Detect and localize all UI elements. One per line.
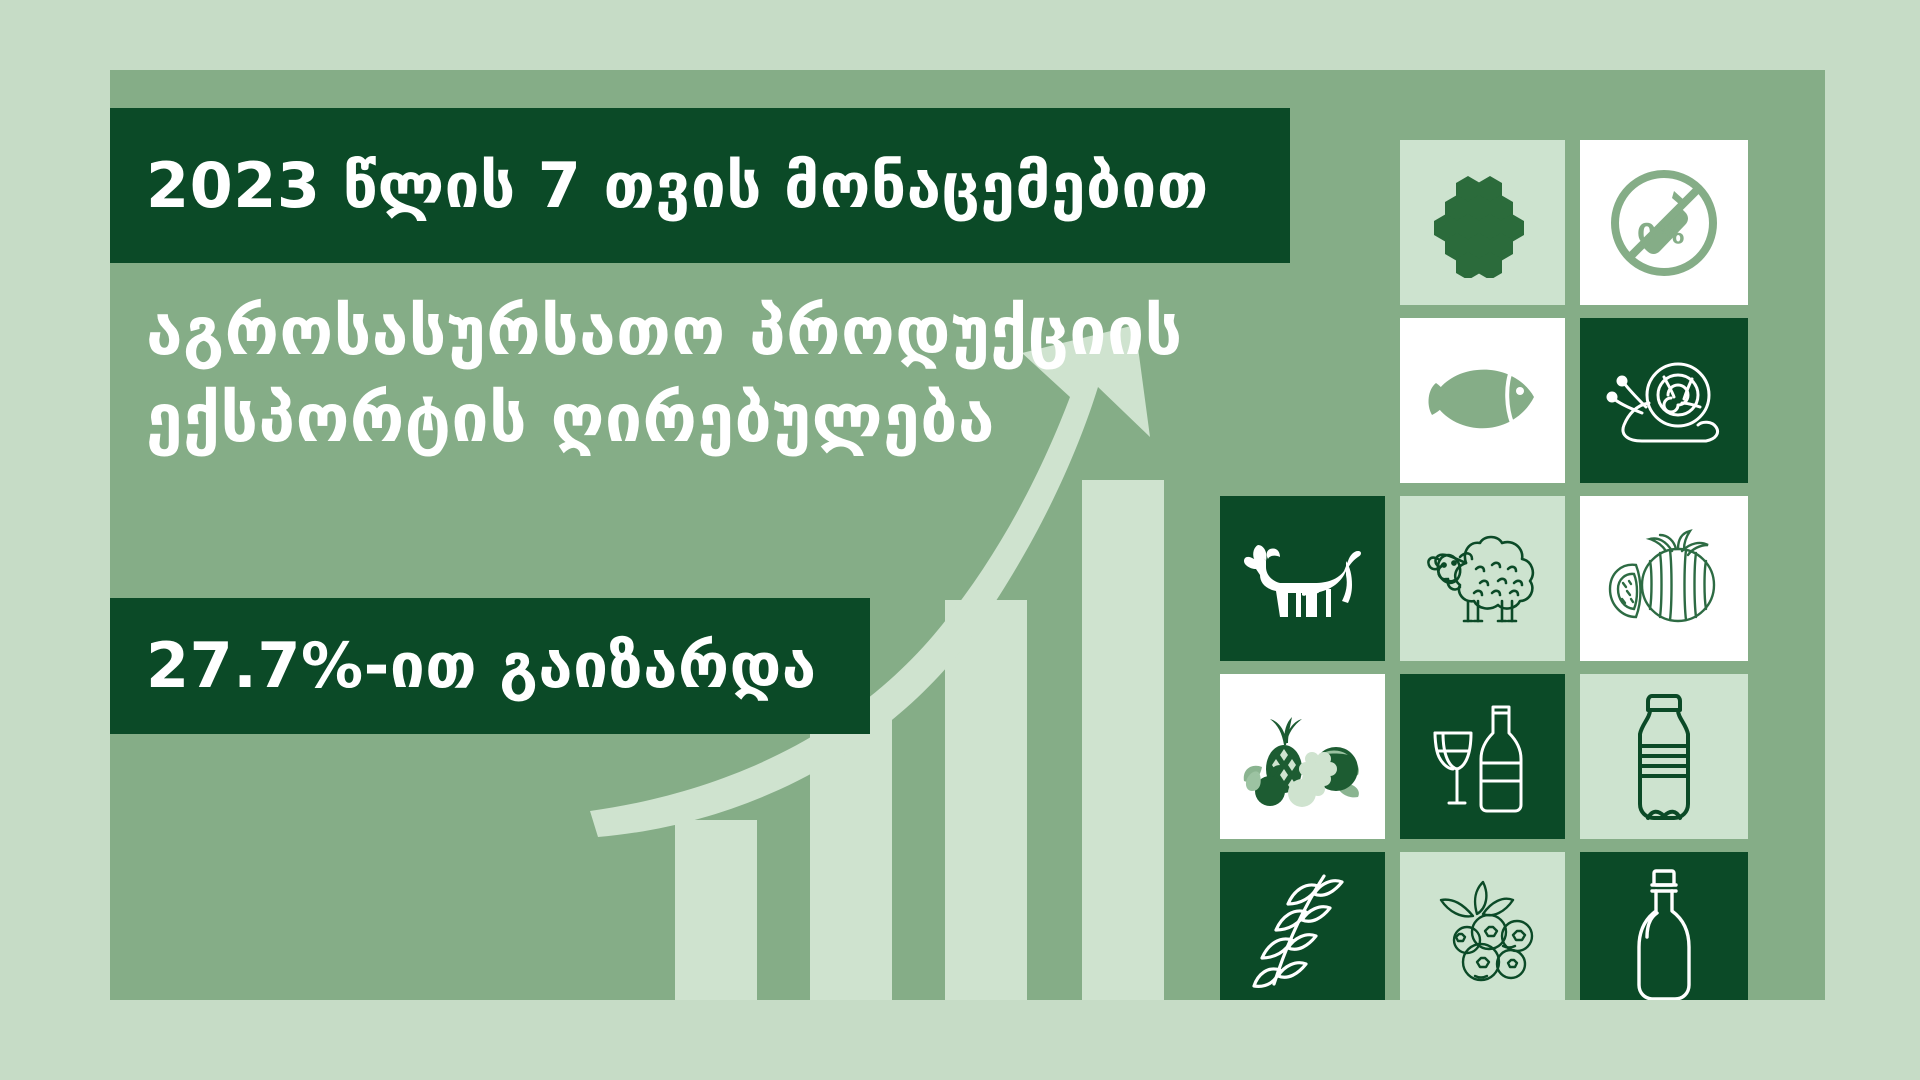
headline: აგროსასურსათო პროდუქციის ექსპორტის ღირებ… <box>146 288 1296 462</box>
cow-icon <box>1240 531 1366 627</box>
stat-band: 27.7%-ით გაიზარდა <box>110 598 870 734</box>
tile-melon <box>1580 496 1748 661</box>
water-bottle-icon <box>1626 692 1702 822</box>
sheep-icon <box>1422 529 1544 629</box>
berries-icon <box>1423 880 1543 990</box>
tile-no-alcohol: 0% <box>1580 140 1748 305</box>
stat-label: 27.7%-ით გაიზარდა <box>146 635 817 697</box>
melon-icon <box>1602 529 1726 629</box>
herb-branch-icon <box>1248 870 1358 1000</box>
date-label: 2023 წლის 7 თვის მონაცემებით <box>146 155 1209 217</box>
headline-line-1: აგროსასურსათო პროდუქციის <box>146 288 1296 375</box>
fruits-basket-icon <box>1240 707 1366 807</box>
no-alcohol-0-percent-icon: 0% <box>1604 163 1724 283</box>
date-band: 2023 წლის 7 თვის მონაცემებით <box>110 108 1290 263</box>
tile-fruits <box>1220 674 1385 839</box>
product-icon-grid: 0% <box>1300 70 1825 1000</box>
tile-water-bottle <box>1580 674 1748 839</box>
tile-berries <box>1400 852 1565 1000</box>
tile-wine <box>1400 674 1565 839</box>
tile-sheep <box>1400 496 1565 661</box>
fish-icon <box>1424 361 1542 441</box>
chart-bar-1 <box>675 820 757 1000</box>
snail-icon <box>1602 355 1726 447</box>
infographic-canvas: 2023 წლის 7 თვის მონაცემებით აგროსასურსა… <box>0 0 1920 1080</box>
chart-bar-3 <box>945 600 1027 1000</box>
glass-bottle-icon <box>1629 867 1699 1001</box>
chart-bar-4 <box>1082 480 1164 1000</box>
tile-glass-bottle <box>1580 852 1748 1000</box>
tile-herb <box>1220 852 1385 1000</box>
tile-snail <box>1580 318 1748 483</box>
honeycomb-icon <box>1428 168 1538 278</box>
tile-cow <box>1220 496 1385 661</box>
tile-fish <box>1400 318 1565 483</box>
svg-text:0%: 0% <box>1637 217 1685 250</box>
wine-bottle-glass-icon <box>1425 697 1541 817</box>
headline-line-2: ექსპორტის ღირებულება <box>146 375 1296 462</box>
main-panel: 2023 წლის 7 თვის მონაცემებით აგროსასურსა… <box>110 70 1825 1000</box>
tile-honeycomb <box>1400 140 1565 305</box>
chart-bar-2 <box>810 712 892 1000</box>
